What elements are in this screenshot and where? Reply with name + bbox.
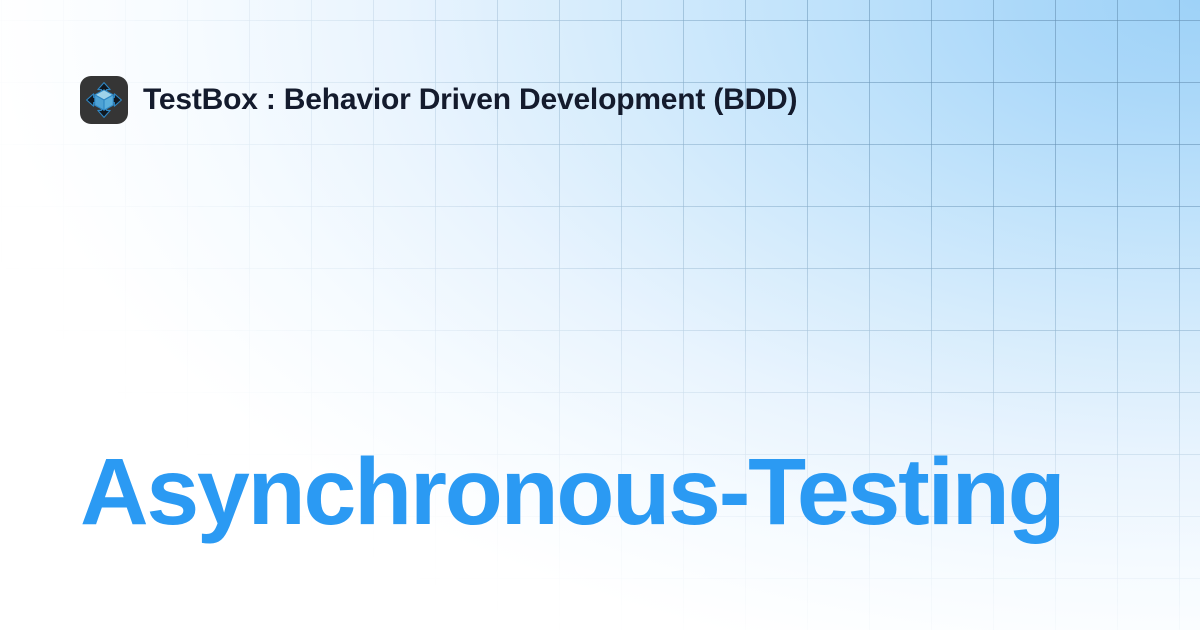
social-card: TestBox : Behavior Driven Development (B… xyxy=(0,0,1200,630)
logo-badge xyxy=(80,76,128,124)
testbox-cube-arrows-icon xyxy=(84,80,124,120)
header: TestBox : Behavior Driven Development (B… xyxy=(80,76,797,124)
project-title: TestBox : Behavior Driven Development (B… xyxy=(143,83,797,117)
page-heading: Asynchronous-Testing xyxy=(80,440,1063,545)
